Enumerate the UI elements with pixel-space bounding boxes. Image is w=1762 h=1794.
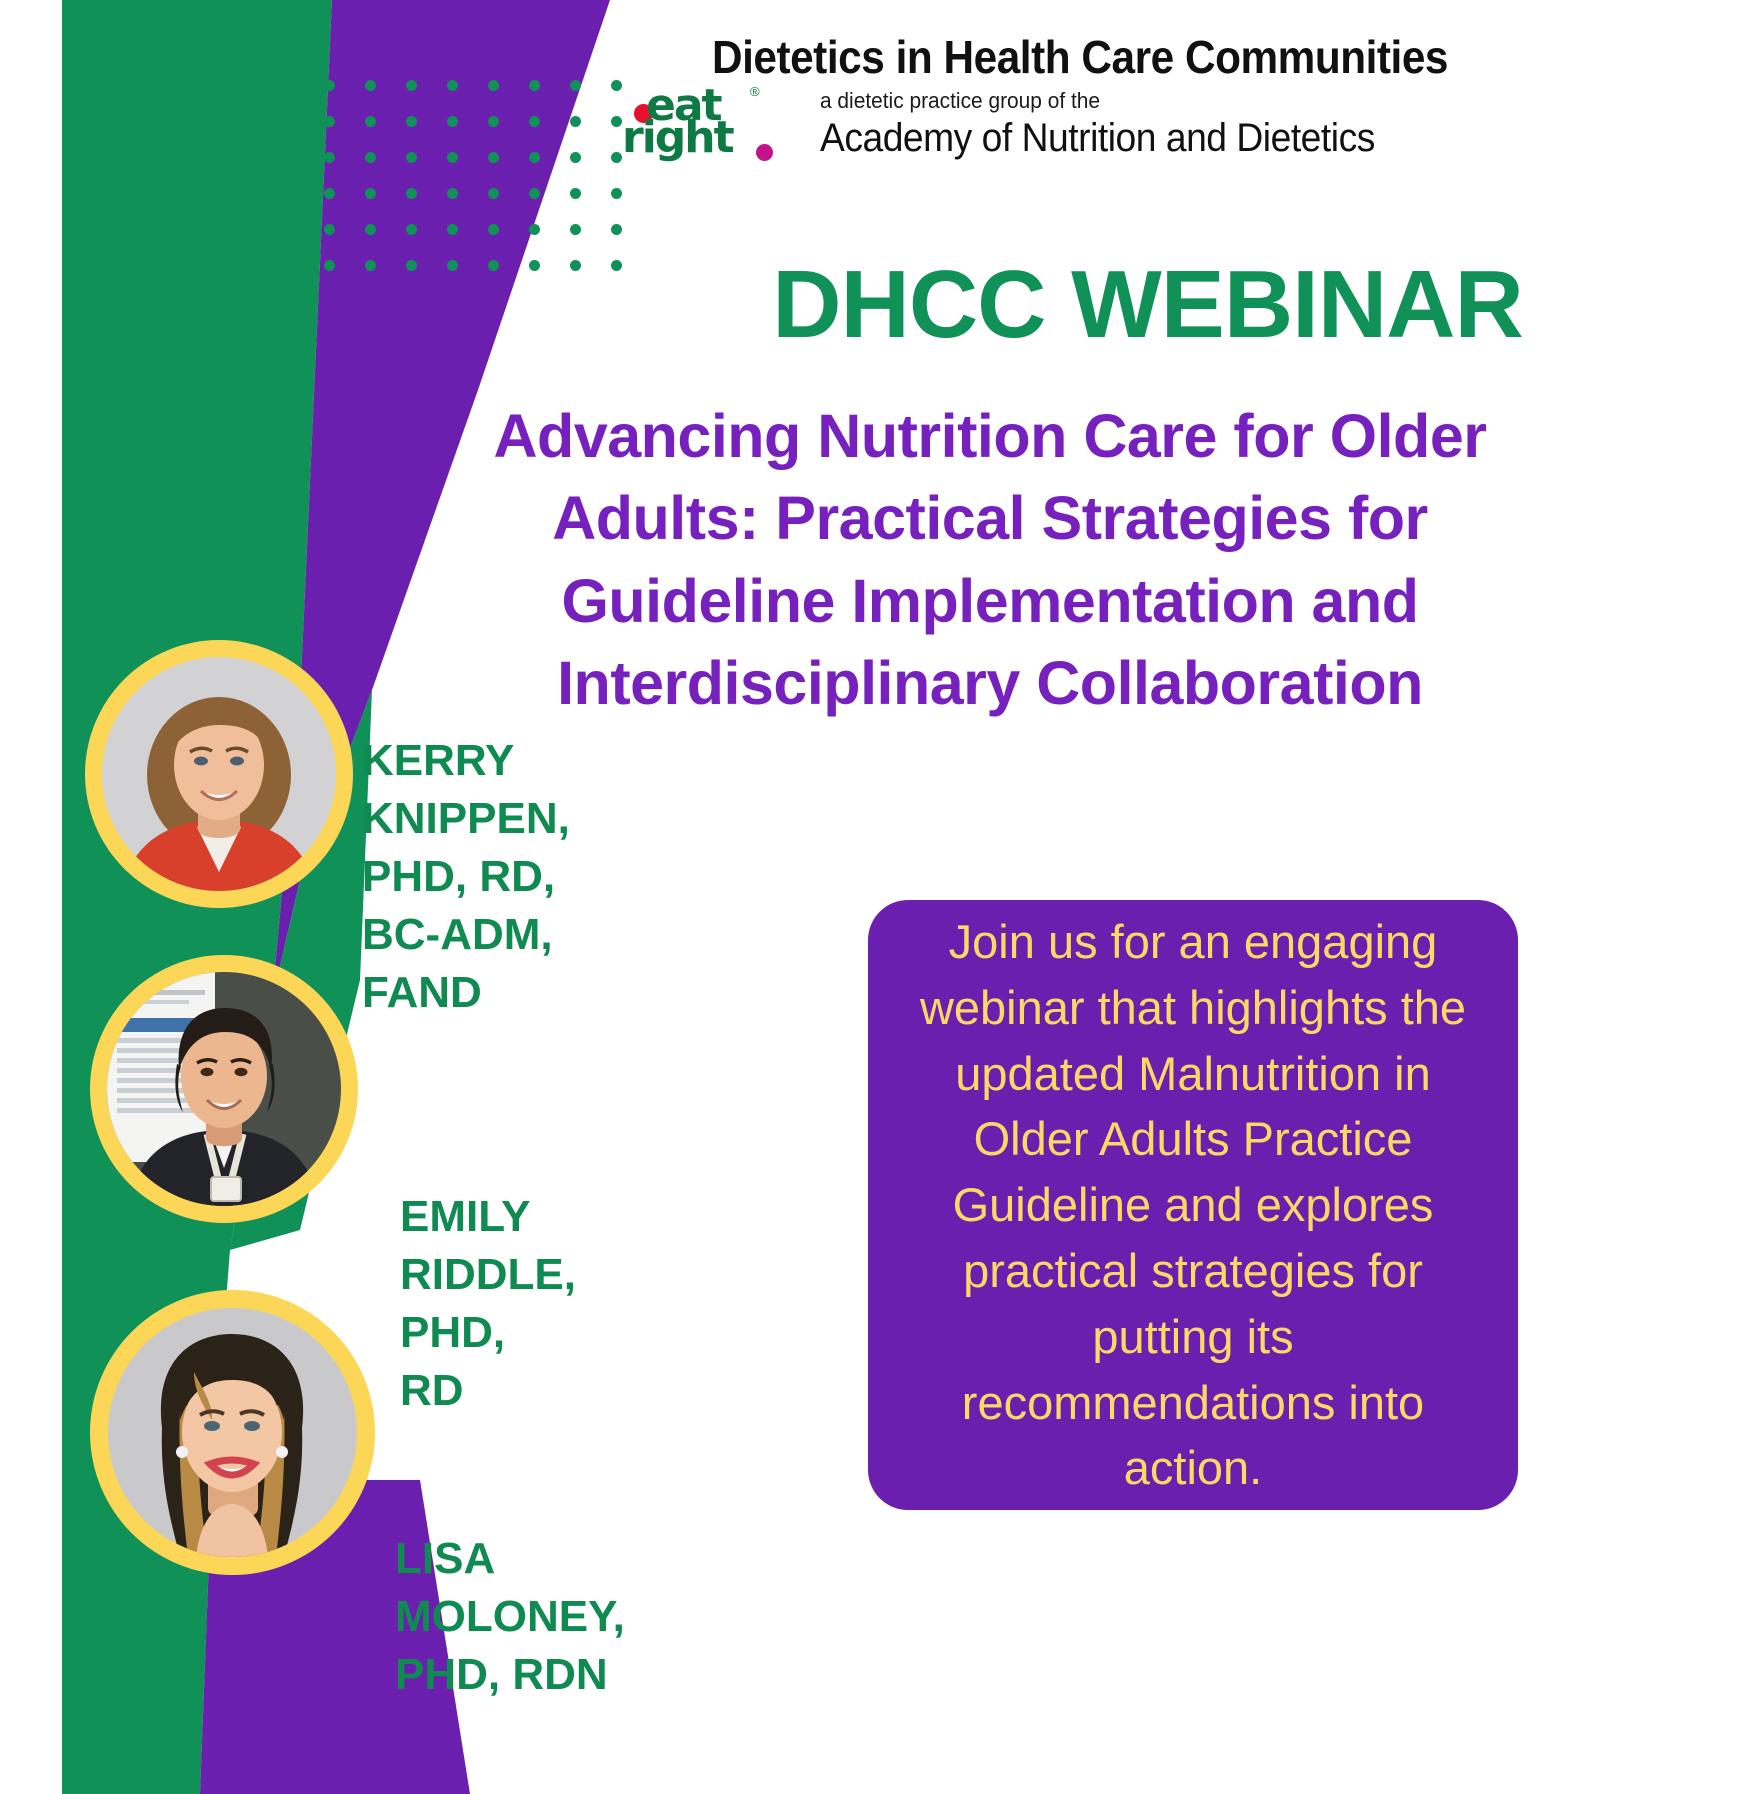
grid-dot-icon xyxy=(283,116,294,127)
grid-dot-icon xyxy=(488,260,499,271)
grid-dot-icon xyxy=(447,152,458,163)
speaker-avatar-2 xyxy=(107,972,341,1206)
grid-dot-icon xyxy=(611,188,622,199)
logo-magenta-dot-icon xyxy=(756,144,773,161)
grid-dot-icon xyxy=(529,80,540,91)
grid-dot-icon xyxy=(611,80,622,91)
webinar-flyer: Dietetics in Health Care Communities eat… xyxy=(0,0,1762,1794)
grid-dot-icon xyxy=(406,188,417,199)
grid-dot-icon xyxy=(447,224,458,235)
grid-dot-icon xyxy=(283,152,294,163)
grid-dot-icon xyxy=(488,188,499,199)
grid-dot-icon xyxy=(406,116,417,127)
webinar-subtitle: Advancing Nutrition Care for Older Adult… xyxy=(470,395,1510,724)
description-callout-box: Join us for an engaging webinar that hig… xyxy=(868,900,1518,1510)
grid-dot-icon xyxy=(365,80,376,91)
grid-dot-icon xyxy=(447,188,458,199)
grid-dot-icon xyxy=(406,80,417,91)
grid-dot-icon xyxy=(324,116,335,127)
speaker-name-1: KERRY KNIPPEN,PHD, RD, BC-ADM, FAND xyxy=(362,732,570,1022)
grid-dot-icon xyxy=(324,80,335,91)
grid-dot-icon xyxy=(365,224,376,235)
grid-dot-icon xyxy=(365,116,376,127)
grid-dot-icon xyxy=(488,152,499,163)
grid-dot-icon xyxy=(447,80,458,91)
grid-dot-icon xyxy=(324,188,335,199)
grid-dot-icon xyxy=(570,188,581,199)
grid-dot-icon xyxy=(365,188,376,199)
speaker-name-3: LISA MOLONEY,PHD, RDN xyxy=(395,1530,625,1704)
grid-dot-icon xyxy=(611,116,622,127)
academy-line: Academy of Nutrition and Dietetics xyxy=(820,116,1375,161)
grid-dot-icon xyxy=(570,152,581,163)
grid-dot-icon xyxy=(324,152,335,163)
dot-grid-decoration xyxy=(283,80,653,275)
grid-dot-icon xyxy=(283,224,294,235)
grid-dot-icon xyxy=(406,260,417,271)
page-title: DHCC WEBINAR xyxy=(560,255,1735,356)
grid-dot-icon xyxy=(570,80,581,91)
speaker-name-2: EMILY RIDDLE,PHD, RD xyxy=(400,1188,576,1420)
grid-dot-icon xyxy=(406,224,417,235)
grid-dot-icon xyxy=(529,188,540,199)
grid-dot-icon xyxy=(570,224,581,235)
brand-logo-block: Dietetics in Health Care Communities eat… xyxy=(712,34,1752,164)
grid-dot-icon xyxy=(529,152,540,163)
grid-dot-icon xyxy=(283,80,294,91)
grid-dot-icon xyxy=(611,152,622,163)
grid-dot-icon xyxy=(365,260,376,271)
grid-dot-icon xyxy=(447,260,458,271)
grid-dot-icon xyxy=(488,80,499,91)
grid-dot-icon xyxy=(529,116,540,127)
grid-dot-icon xyxy=(324,260,335,271)
grid-dot-icon xyxy=(529,260,540,271)
speaker-avatar-1 xyxy=(102,657,336,891)
grid-dot-icon xyxy=(447,116,458,127)
grid-dot-icon xyxy=(529,224,540,235)
grid-dot-icon xyxy=(488,224,499,235)
practice-group-line: a dietetic practice group of the xyxy=(820,88,1100,114)
grid-dot-icon xyxy=(611,224,622,235)
grid-dot-icon xyxy=(570,116,581,127)
grid-dot-icon xyxy=(283,188,294,199)
grid-dot-icon xyxy=(365,152,376,163)
grid-dot-icon xyxy=(324,224,335,235)
org-title: Dietetics in Health Care Communities xyxy=(712,34,1669,80)
grid-dot-icon xyxy=(406,152,417,163)
grid-dot-icon xyxy=(488,116,499,127)
eat-right-logo: eat ® right xyxy=(622,82,802,160)
logo-registered-icon: ® xyxy=(750,84,760,99)
speaker-avatar-3 xyxy=(108,1308,357,1557)
grid-dot-icon xyxy=(283,260,294,271)
description-text: Join us for an engaging webinar that hig… xyxy=(868,883,1518,1527)
logo-right-text: right xyxy=(622,116,733,160)
